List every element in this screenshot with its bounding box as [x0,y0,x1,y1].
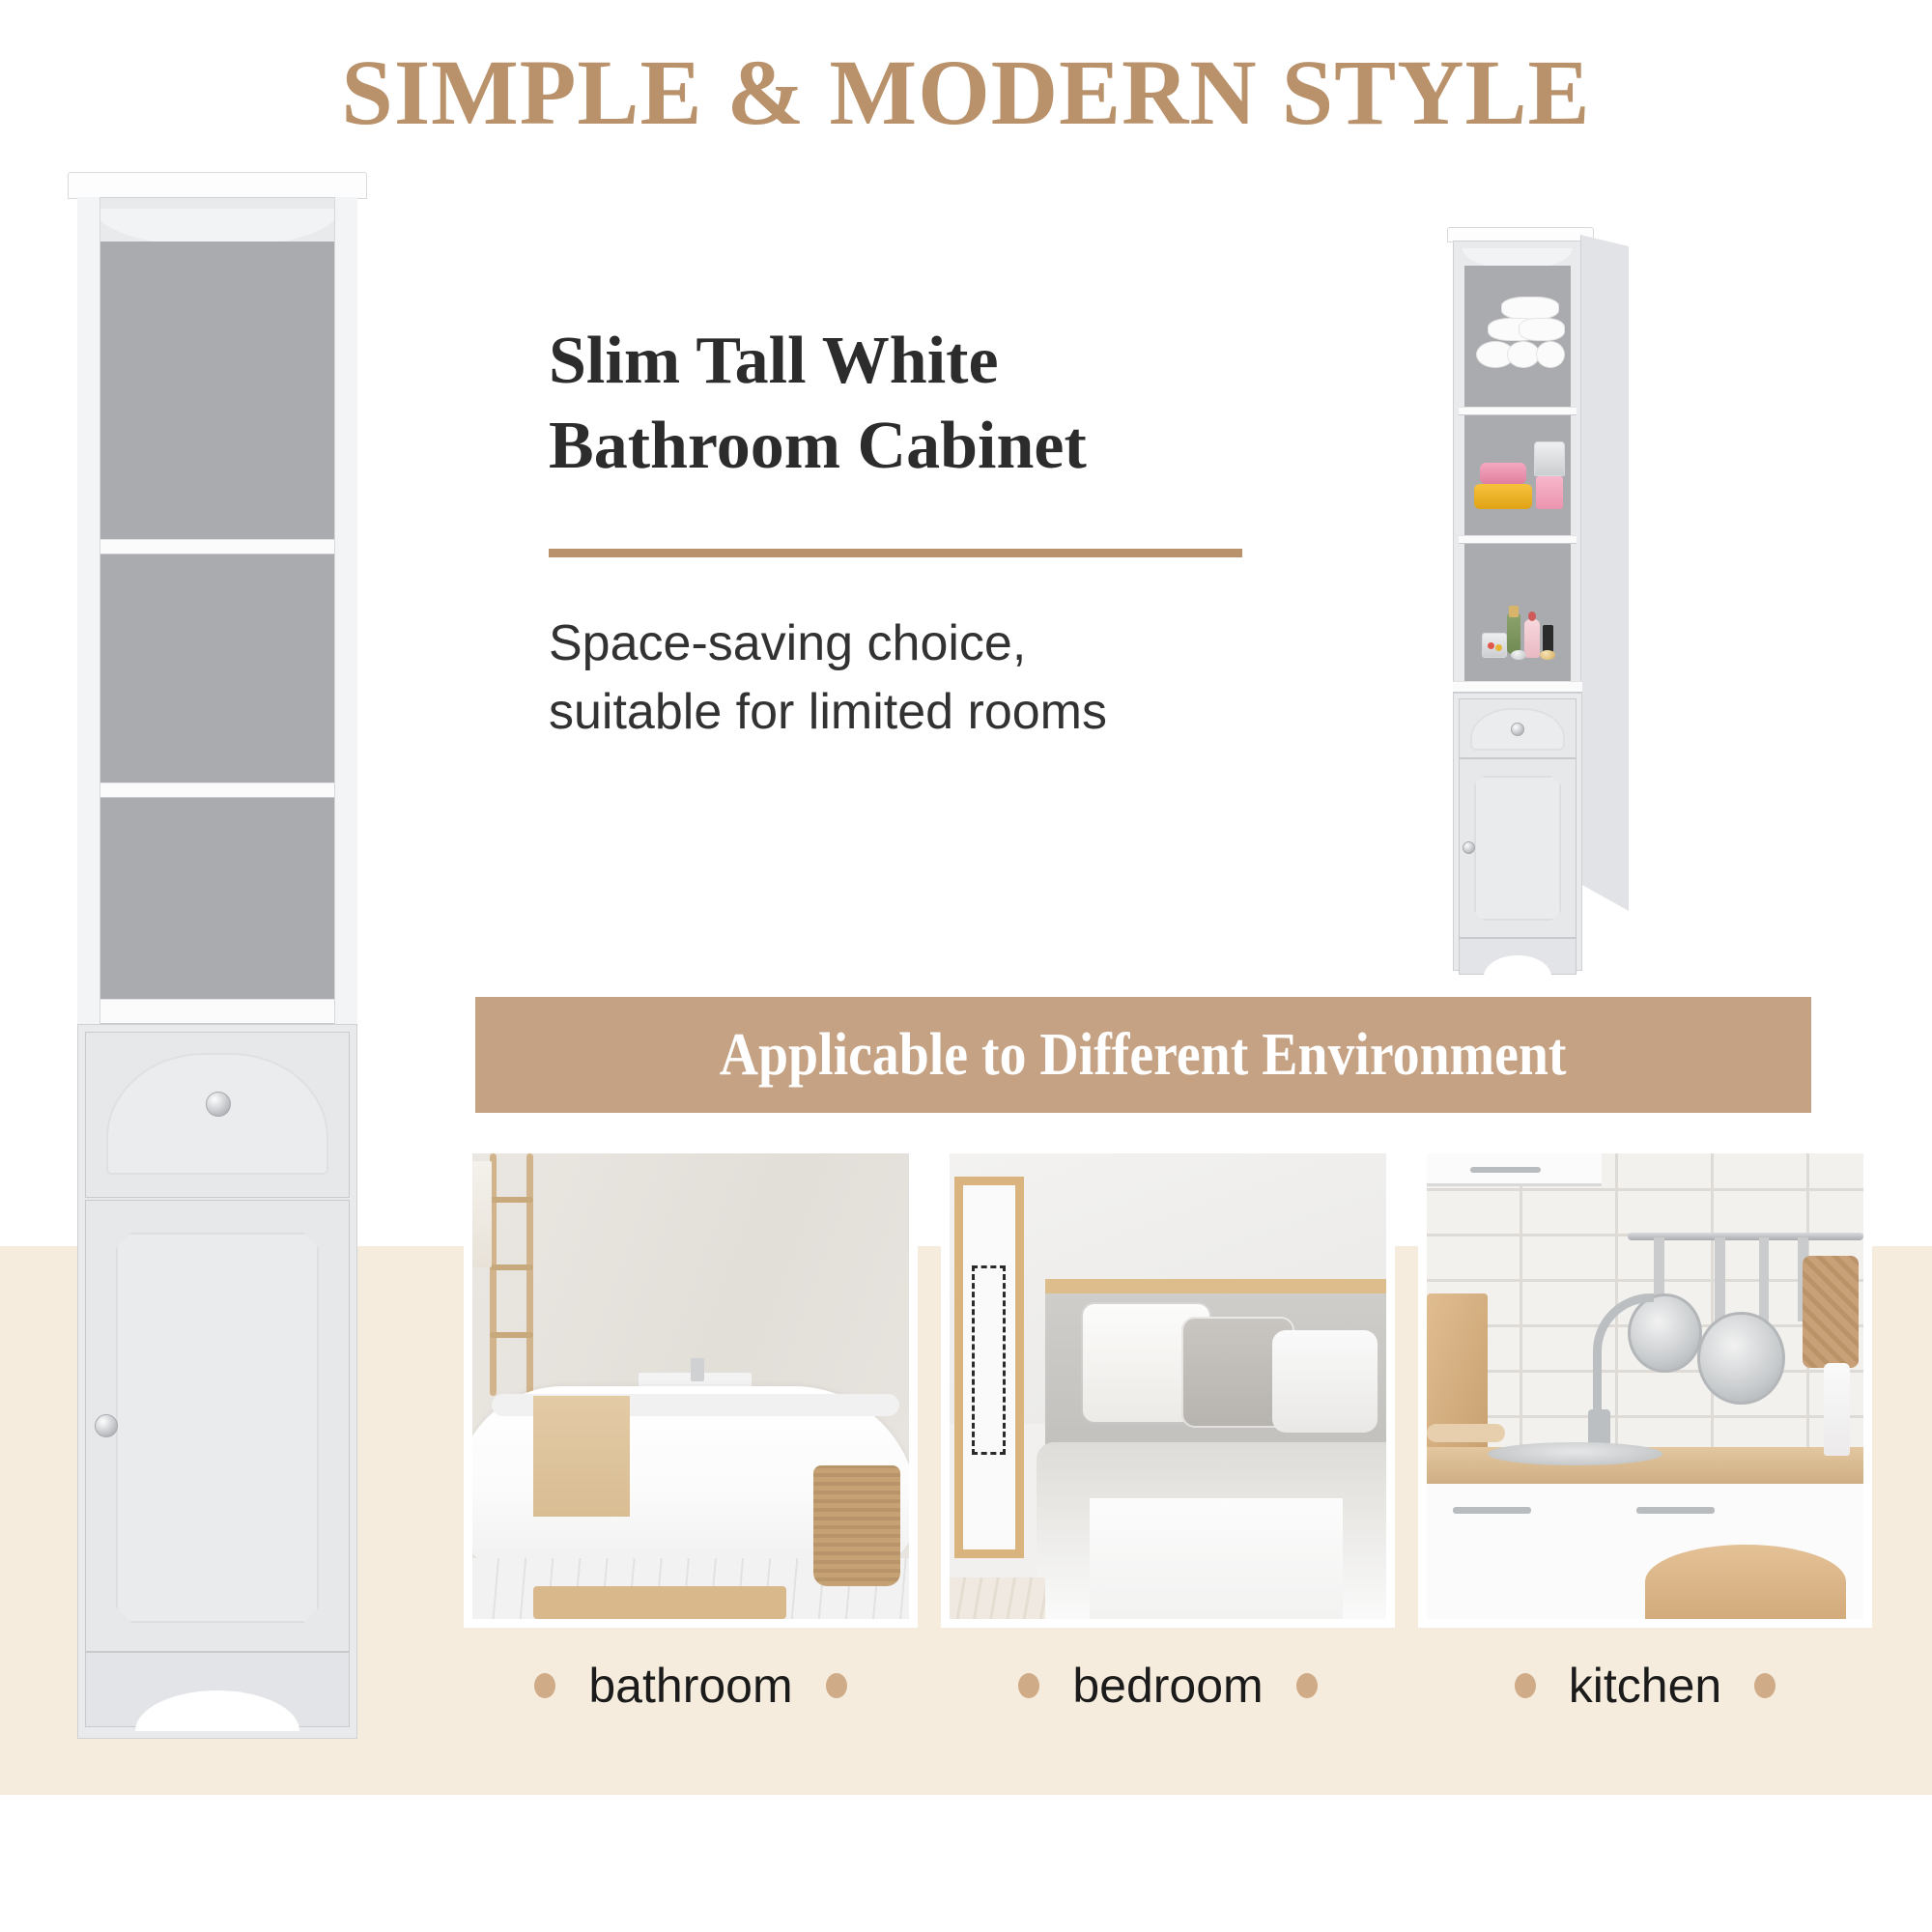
framed-poster [954,1177,1024,1558]
product-image-cabinet-styled [1447,227,1631,990]
rolling-pin [1427,1424,1505,1442]
caption-kitchen: kitchen [1418,1642,1872,1729]
product-heading: Slim Tall White Bathroom Cabinet [549,319,1283,489]
product-heading-line-2: Bathroom Cabinet [549,404,1283,489]
environment-thumbnail-row [464,1145,1874,1628]
drawer-knob-icon [206,1092,231,1117]
door-knob-icon [95,1414,118,1437]
tan-dot-icon [1754,1673,1776,1698]
tan-dot-icon [534,1673,555,1698]
oven-mitt [1803,1256,1860,1368]
wicker-basket [813,1465,900,1586]
thumbnail-caption-row: bathroom bedroom kitchen [464,1642,1874,1729]
heading-divider [549,549,1242,557]
page-title: SIMPLE & MODERN STYLE [0,39,1932,146]
product-copy-block: Slim Tall White Bathroom Cabinet Space-s… [549,319,1283,747]
product-subtext: Space-saving choice, suitable for limite… [549,610,1283,746]
product-heading-line-1: Slim Tall White [549,319,1283,404]
thumbnail-kitchen [1418,1145,1872,1628]
environment-banner-label: Applicable to Different Environment [720,1021,1567,1090]
sink [1488,1442,1662,1465]
tan-dot-icon [1296,1673,1318,1698]
saucepan [1697,1312,1784,1405]
wooden-stool [1645,1545,1846,1619]
thumbnail-bathroom [464,1145,918,1628]
door-knob-icon [1463,841,1475,854]
product-subtext-line-2: suitable for limited rooms [549,678,1283,747]
tan-dot-icon [826,1673,847,1698]
caption-label: kitchen [1569,1658,1721,1714]
thumbnail-bedroom [941,1145,1395,1628]
caption-bathroom: bathroom [464,1642,918,1729]
tan-dot-icon [1515,1673,1536,1698]
caption-label: bedroom [1072,1658,1263,1714]
caption-bedroom: bedroom [941,1642,1395,1729]
ladder-decor [490,1153,533,1396]
drawer-knob-icon [1511,723,1524,736]
pepper-mill [1824,1363,1850,1456]
tan-dot-icon [1018,1673,1039,1698]
product-subtext-line-1: Space-saving choice, [549,610,1283,678]
caption-label: bathroom [588,1658,792,1714]
product-image-cabinet-front [68,172,367,1795]
environment-banner: Applicable to Different Environment [475,997,1811,1113]
